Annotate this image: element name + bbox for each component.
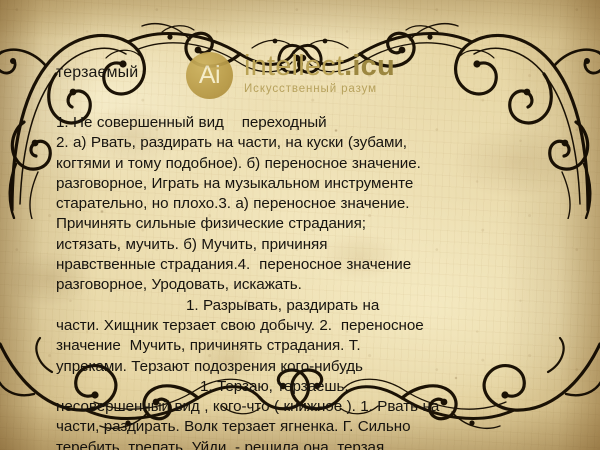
definition-line: нравственные страдания.4. переносное зна… xyxy=(56,255,556,275)
definition-line: несовершенный вид , кого-что ( книжное )… xyxy=(56,397,556,417)
document-content: терзаемый 1. Не совершенный вид переходн… xyxy=(0,0,600,450)
definition-line: значение Мучить, причинять страдания. Т. xyxy=(56,336,556,356)
definition-line: истязать, мучить. б) Мучить, причиняя xyxy=(56,235,556,255)
slide-canvas: Ai intellect.icu Искусственный разум тер… xyxy=(0,0,600,450)
definition-text: 1. Не совершенный вид переходный2. а) Рв… xyxy=(56,113,556,450)
definition-line: когтями и тому подобное). б) переносное … xyxy=(56,154,556,174)
definition-line: части. Хищник терзает свою добычу. 2. пе… xyxy=(56,316,556,336)
definition-line: теребить, трепать. Уйди, - решила она, т… xyxy=(56,438,556,450)
definition-line: 2. а) Рвать, раздирать на части, на куск… xyxy=(56,133,556,153)
definition-line: разговорное, Уродовать, искажать. xyxy=(56,275,556,295)
definition-line: 1. Не совершенный вид переходный xyxy=(56,113,556,133)
definition-line: разговорное, Играть на музыкальном инстр… xyxy=(56,174,556,194)
definition-line: части, раздирать. Волк терзает ягненка. … xyxy=(56,417,556,437)
definition-line: 1. Разрывать, раздирать на xyxy=(56,296,556,316)
page-title: терзаемый xyxy=(56,64,138,82)
definition-line: 1. Терзаю, терзаешь, xyxy=(56,377,556,397)
definition-line: старательно, но плохо.3. а) переносное з… xyxy=(56,194,556,214)
definition-line: Причинять сильные физические страдания; xyxy=(56,214,556,234)
definition-line: упреками. Терзают подозрения кого-нибудь xyxy=(56,357,556,377)
